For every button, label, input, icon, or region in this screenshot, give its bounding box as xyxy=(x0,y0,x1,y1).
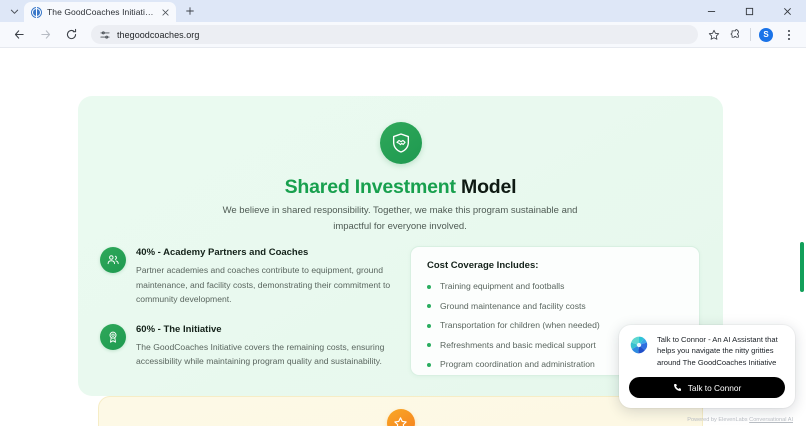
address-bar[interactable]: thegoodcoaches.org xyxy=(91,25,698,44)
point-title: 60% - The Initiative xyxy=(136,324,400,335)
reload-icon[interactable] xyxy=(58,22,84,48)
premium-coach-recognition-section: Premium Coach Recognition Recognizing in… xyxy=(98,396,703,426)
minimize-icon[interactable] xyxy=(692,0,730,22)
powered-by-prefix: Powered by ElevenLabs xyxy=(687,417,749,423)
award-medal-icon xyxy=(100,324,126,350)
browser-toolbar: thegoodcoaches.org S xyxy=(0,22,806,48)
cost-coverage-title: Cost Coverage Includes: xyxy=(427,260,683,271)
toolbar-divider xyxy=(750,28,751,41)
star-outline-icon[interactable] xyxy=(703,24,725,46)
page-subtitle: We believe in shared responsibility. Tog… xyxy=(214,203,586,234)
maximize-icon[interactable] xyxy=(730,0,768,22)
list-item: Training equipment and footballs xyxy=(427,281,683,292)
kebab-menu-icon[interactable] xyxy=(778,24,800,46)
chat-message-row: Talk to Connor - An AI Assistant that he… xyxy=(629,334,785,369)
page-viewport: Shared Investment Model We believe in sh… xyxy=(0,48,806,426)
bullet-dot-icon xyxy=(427,343,431,347)
tab-title: The GoodCoaches Initiative xyxy=(47,7,154,17)
tab-search-caret-icon[interactable] xyxy=(4,0,24,22)
bullet-dot-icon xyxy=(427,324,431,328)
page-title-accent: Shared Investment xyxy=(285,176,456,198)
users-icon xyxy=(100,247,126,273)
list-item: Ground maintenance and facility costs xyxy=(427,301,683,312)
window-close-icon[interactable] xyxy=(768,0,806,22)
powered-by-label: Powered by ElevenLabs Conversational AI xyxy=(687,417,793,423)
tune-icon[interactable] xyxy=(100,30,110,40)
scrollbar[interactable] xyxy=(800,48,806,426)
puzzle-icon[interactable] xyxy=(725,24,747,46)
browser-tab[interactable]: The GoodCoaches Initiative xyxy=(24,2,176,22)
list-item: 60% - The Initiative The GoodCoaches Ini… xyxy=(100,323,400,369)
back-icon[interactable] xyxy=(6,22,32,48)
close-icon[interactable] xyxy=(159,6,171,18)
talk-to-connor-label: Talk to Connor xyxy=(688,383,742,393)
globe-icon xyxy=(31,7,42,18)
list-item-label: Transportation for children (when needed… xyxy=(440,320,600,331)
window-controls xyxy=(692,0,806,22)
bullet-dot-icon xyxy=(427,304,431,308)
list-item-label: Ground maintenance and facility costs xyxy=(440,301,586,312)
point-title: 40% - Academy Partners and Coaches xyxy=(136,247,400,258)
pinwheel-icon xyxy=(629,335,649,355)
forward-icon[interactable] xyxy=(32,22,58,48)
tab-strip: The GoodCoaches Initiative xyxy=(0,0,806,22)
point-text: Partner academies and coaches contribute… xyxy=(136,263,400,307)
page-title-rest: Model xyxy=(456,176,517,198)
new-tab-button[interactable] xyxy=(179,0,201,22)
handshake-shield-icon xyxy=(380,122,422,164)
bullet-dot-icon xyxy=(427,285,431,289)
phone-icon xyxy=(673,383,682,392)
bullet-dot-icon xyxy=(427,363,431,367)
star-icon xyxy=(387,409,415,426)
browser-window: The GoodCoaches Initiative xyxy=(0,0,806,426)
chat-widget: Talk to Connor - An AI Assistant that he… xyxy=(619,325,795,409)
investment-points: 40% - Academy Partners and Coaches Partn… xyxy=(100,246,400,385)
url-text: thegoodcoaches.org xyxy=(117,30,199,40)
chat-message: Talk to Connor - An AI Assistant that he… xyxy=(657,334,785,369)
point-text: The GoodCoaches Initiative covers the re… xyxy=(136,340,400,369)
scrollbar-thumb[interactable] xyxy=(800,242,804,292)
avatar[interactable]: S xyxy=(759,28,773,42)
list-item-label: Program coordination and administration xyxy=(440,359,595,370)
page-title: Shared Investment Model xyxy=(78,176,723,199)
list-item-label: Training equipment and footballs xyxy=(440,281,564,292)
list-item-label: Refreshments and basic medical support xyxy=(440,340,596,351)
conversational-ai-link[interactable]: Conversational AI xyxy=(749,417,793,423)
talk-to-connor-button[interactable]: Talk to Connor xyxy=(629,377,785,398)
list-item: 40% - Academy Partners and Coaches Partn… xyxy=(100,246,400,307)
